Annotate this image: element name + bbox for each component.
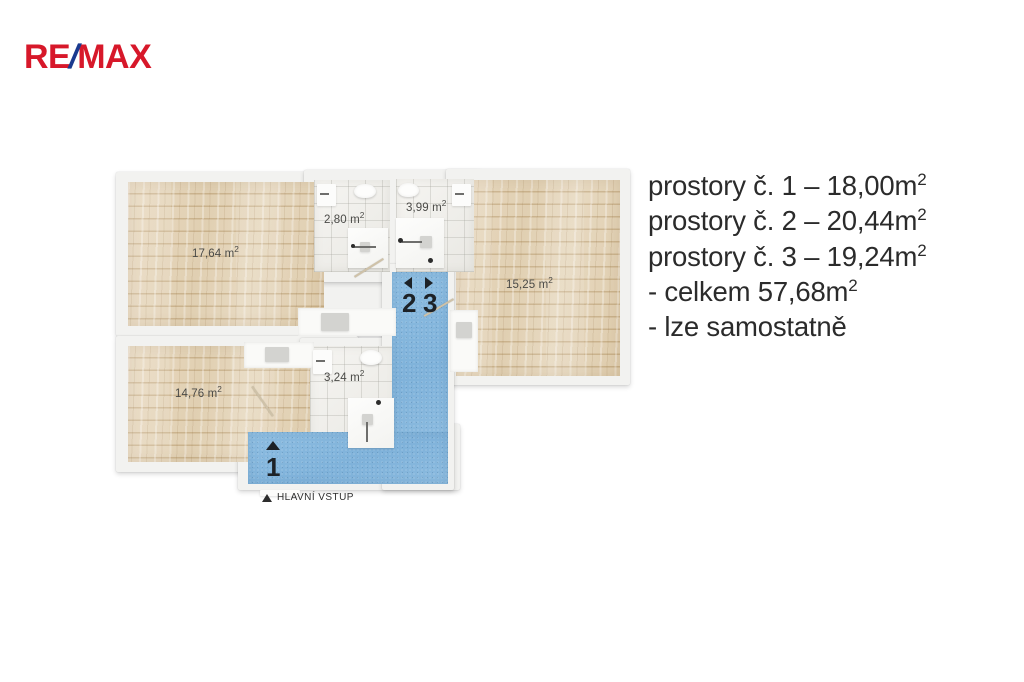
hallway-spine-vertical — [392, 272, 448, 448]
shower-pipe-bath-left — [354, 246, 376, 248]
fixture-outlet-lower-left — [265, 347, 289, 362]
sink-faucet-bath-right — [455, 193, 464, 195]
legend-line-2-text: prostory č. 2 – 20,44m — [648, 205, 917, 236]
sink-faucet-bath-left — [320, 193, 329, 195]
legend-line-1-sup: 2 — [917, 170, 926, 189]
legend-line-3-text: prostory č. 3 – 19,24m — [648, 241, 917, 272]
legend-line-2: prostory č. 2 – 20,44m2 — [648, 203, 1008, 238]
hallway-marker-3: 3 — [423, 290, 436, 316]
main-entrance-caption: HLAVNÍ VSTUP — [262, 492, 354, 503]
hallway-marker-2: 2 — [402, 290, 415, 316]
fixture-outlet-right-side — [456, 322, 472, 338]
area-label-room-top-left: 17,64 m2 — [192, 248, 239, 260]
area-label-sup: 2 — [360, 211, 365, 220]
area-label-sup: 2 — [360, 369, 365, 378]
remax-logo: RE / MAX — [24, 40, 151, 74]
sink-cabinet-bath-left — [317, 184, 336, 206]
logo-text-max: MAX — [77, 40, 151, 74]
area-label-sup: 2 — [442, 199, 447, 208]
triangle-up-icon — [262, 494, 272, 502]
legend-line-1: prostory č. 1 – 18,00m2 — [648, 168, 1008, 203]
area-label-sup: 2 — [234, 245, 239, 254]
area-legend: prostory č. 1 – 18,00m2 prostory č. 2 – … — [648, 168, 1008, 345]
area-label-text: 17,64 m — [192, 248, 234, 260]
area-label-text: 14,76 m — [175, 388, 217, 400]
hallway-marker-1: 1 — [266, 454, 279, 480]
toilet-bath-left — [354, 184, 376, 198]
shower-drain-bath-lower — [362, 414, 373, 425]
area-label-text: 3,24 m — [324, 372, 360, 384]
area-label-room-bottom-left: 14,76 m2 — [175, 388, 222, 400]
legend-line-4-text: - celkem 57,68m — [648, 276, 848, 307]
sink-cabinet-bath-right — [452, 184, 471, 206]
legend-line-1-text: prostory č. 1 – 18,00m — [648, 170, 917, 201]
legend-line-5-text: - lze samostatně — [648, 311, 847, 342]
wall-niche-right-side — [450, 310, 478, 372]
toilet-bath-right — [398, 183, 419, 197]
logo-text-re: RE — [24, 40, 70, 74]
shower-pipe-bath-lower — [366, 422, 368, 442]
floorplan-drawing: 17,64 m2 15,25 m2 14,76 m2 2,80 m2 3,99 … — [108, 160, 636, 515]
floorplan-page: RE / MAX prostory č. 1 – 18,00m2 prostor… — [0, 0, 1024, 682]
area-label-bath-lower: 3,24 m2 — [324, 372, 364, 384]
shower-head-dot-bath-lower — [376, 400, 381, 405]
floor-drain-dot-bath-right — [428, 258, 433, 263]
main-entrance-label: HLAVNÍ VSTUP — [277, 492, 354, 503]
area-label-bath-left: 2,80 m2 — [324, 214, 364, 226]
sink-faucet-bath-lower — [316, 360, 325, 362]
shower-head-dot-bath-left — [351, 244, 355, 248]
area-label-text: 3,99 m — [406, 202, 442, 214]
legend-line-3-sup: 2 — [917, 241, 926, 260]
area-label-text: 2,80 m — [324, 214, 360, 226]
fixture-outlet-upper-middle — [321, 313, 349, 331]
legend-line-4-sup: 2 — [848, 276, 857, 295]
floor-wood-top-right — [456, 180, 620, 376]
legend-line-3: prostory č. 3 – 19,24m2 — [648, 239, 1008, 274]
shower-head-dot-bath-right — [398, 238, 403, 243]
area-label-room-top-right: 15,25 m2 — [506, 279, 553, 291]
area-label-sup: 2 — [217, 385, 222, 394]
legend-line-5: - lze samostatně — [648, 309, 1008, 344]
area-label-sup: 2 — [548, 276, 553, 285]
area-label-text: 15,25 m — [506, 279, 548, 291]
toilet-bath-lower — [360, 350, 382, 365]
sink-cabinet-bath-lower — [313, 350, 332, 374]
logo-slash-icon: / — [69, 40, 79, 74]
area-label-bath-right: 3,99 m2 — [406, 202, 446, 214]
shower-pipe-bath-right — [402, 241, 422, 243]
legend-line-2-sup: 2 — [917, 205, 926, 224]
triangle-up-icon-marker-1 — [266, 441, 280, 450]
legend-line-4: - celkem 57,68m2 — [648, 274, 1008, 309]
